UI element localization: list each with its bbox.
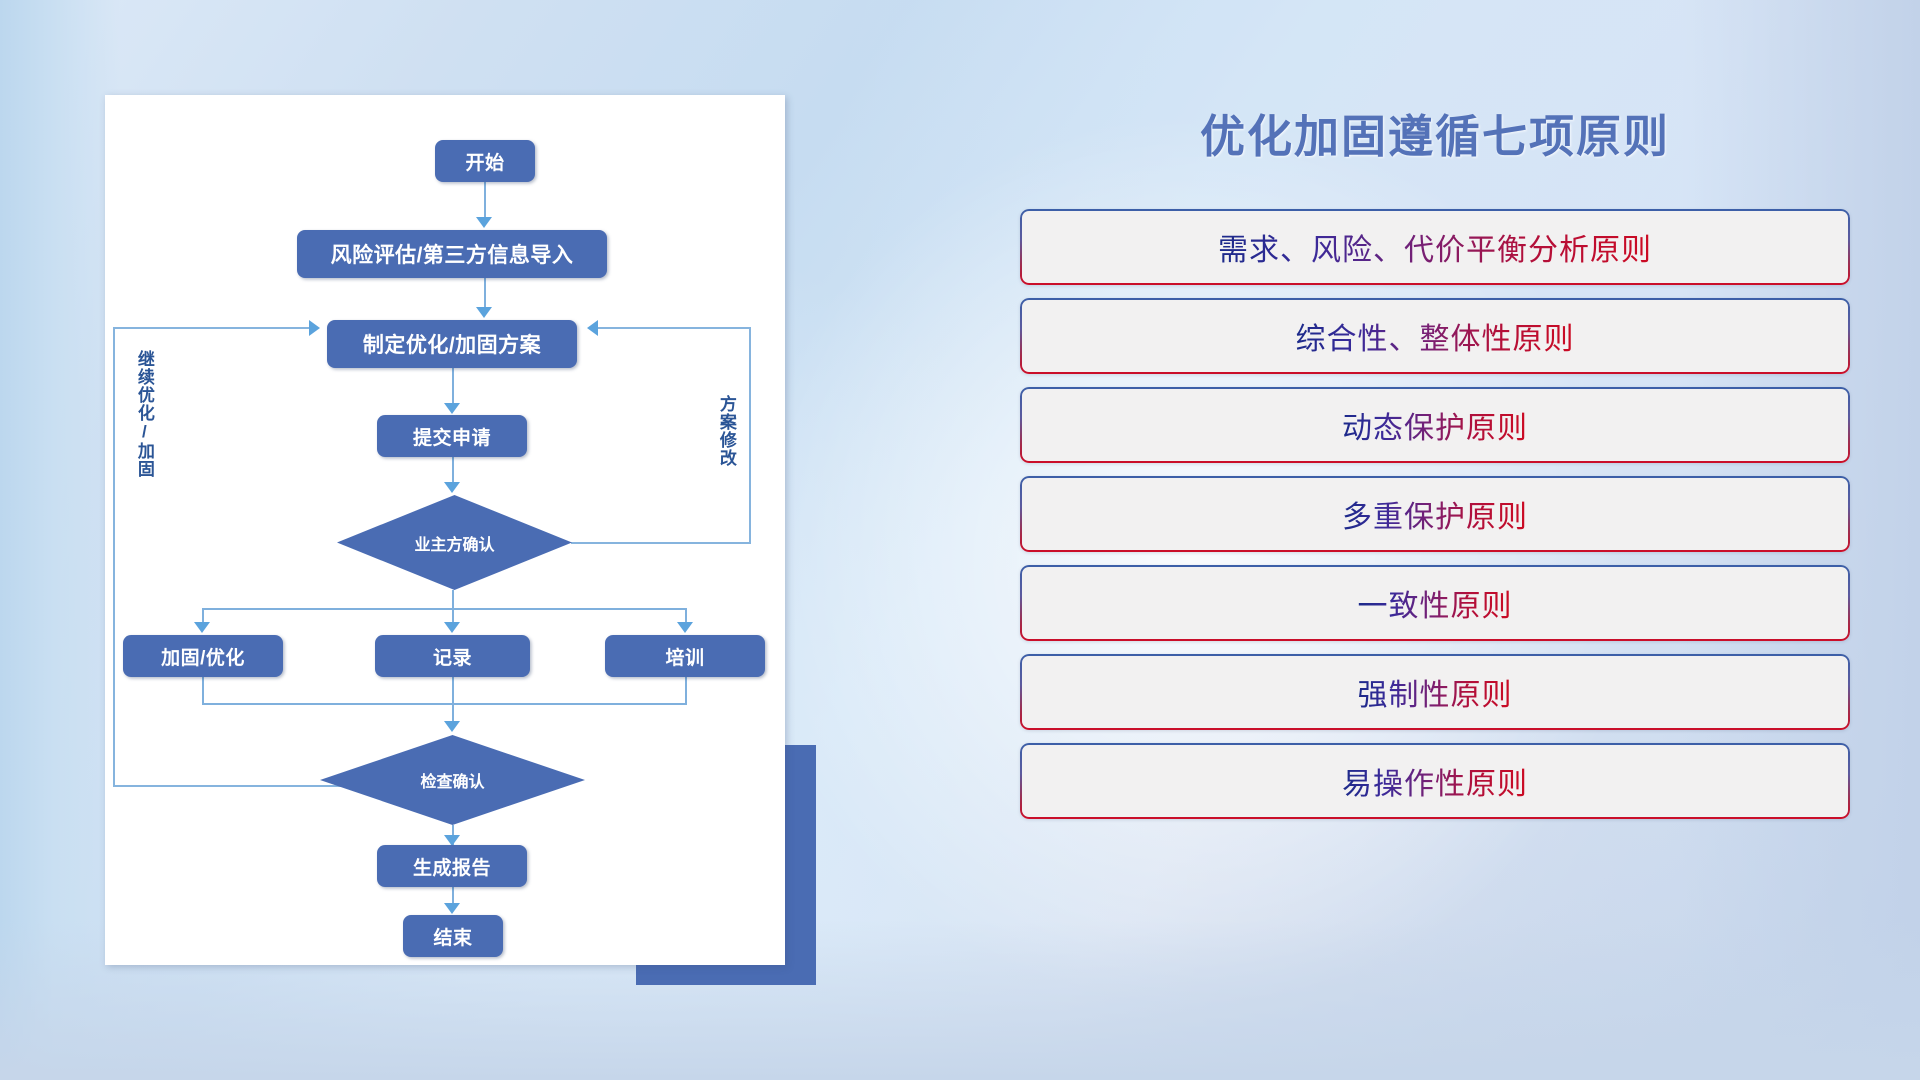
principle-label: 动态保护原则	[1342, 403, 1528, 447]
flow-node-submit[interactable]: 提交申请	[377, 415, 527, 457]
connector-right-loop-vertical	[749, 327, 751, 544]
flow-node-record[interactable]: 记录	[375, 635, 530, 677]
flow-label-continue-optimize: 继续优化/加固	[135, 350, 153, 478]
principle-item-1[interactable]: 需求、风险、代价平衡分析原则	[1020, 209, 1850, 285]
arrow-branch-record	[444, 622, 460, 633]
principles-panel: 优化加固遵循七项原则 需求、风险、代价平衡分析原则 综合性、整体性原则 动态保护…	[1020, 100, 1850, 1000]
connector-start-risk	[484, 182, 486, 218]
principle-label: 一致性原则	[1358, 581, 1513, 625]
connector-plan-submit	[452, 368, 454, 404]
connector-right-loop-top	[597, 327, 751, 329]
arrow-branch-train	[677, 622, 693, 633]
arrow-left-loop-into-plan	[309, 320, 320, 336]
principle-item-2[interactable]: 综合性、整体性原则	[1020, 298, 1850, 374]
flow-node-report[interactable]: 生成报告	[377, 845, 527, 887]
connector-owner-down	[452, 590, 454, 610]
flow-node-end[interactable]: 结束	[403, 915, 503, 957]
arrow-risk-plan	[476, 307, 492, 318]
connector-reinforce-down	[202, 677, 204, 705]
flowchart-stage: 开始 风险评估/第三方信息导入 制定优化/加固方案 提交申请 业主方确认 加固/…	[105, 95, 785, 965]
principle-item-4[interactable]: 多重保护原则	[1020, 476, 1850, 552]
principle-item-7[interactable]: 易操作性原则	[1020, 743, 1850, 819]
arrow-submit-owner	[444, 482, 460, 493]
principle-item-3[interactable]: 动态保护原则	[1020, 387, 1850, 463]
connector-submit-owner	[452, 457, 454, 483]
flow-node-train[interactable]: 培训	[605, 635, 765, 677]
principle-label: 多重保护原则	[1342, 492, 1528, 536]
flowchart-card: 开始 风险评估/第三方信息导入 制定优化/加固方案 提交申请 业主方确认 加固/…	[105, 95, 785, 965]
connector-merge-to-check	[452, 677, 454, 723]
flow-node-start[interactable]: 开始	[435, 140, 535, 182]
flow-node-check[interactable]: 检查确认	[320, 735, 585, 825]
panel-title: 优化加固遵循七项原则	[1020, 100, 1850, 165]
flow-node-risk[interactable]: 风险评估/第三方信息导入	[297, 230, 607, 278]
connector-merge-bus	[202, 703, 687, 705]
principle-label: 需求、风险、代价平衡分析原则	[1218, 225, 1652, 269]
arrow-merge-check	[444, 721, 460, 732]
flow-label-plan-revision: 方案修改	[717, 395, 735, 467]
principle-item-6[interactable]: 强制性原则	[1020, 654, 1850, 730]
arrow-report-end	[444, 903, 460, 914]
principle-item-5[interactable]: 一致性原则	[1020, 565, 1850, 641]
connector-risk-plan	[484, 278, 486, 308]
principle-label: 强制性原则	[1358, 670, 1513, 714]
connector-train-down	[685, 677, 687, 705]
flow-node-plan[interactable]: 制定优化/加固方案	[327, 320, 577, 368]
flow-node-owner[interactable]: 业主方确认	[337, 495, 572, 590]
connector-left-loop-top	[113, 327, 311, 329]
principle-label: 易操作性原则	[1342, 759, 1528, 803]
arrow-branch-reinforce	[194, 622, 210, 633]
background-left-wash	[0, 0, 120, 1080]
principle-label: 综合性、整体性原则	[1296, 314, 1575, 358]
connector-left-loop-bottom	[113, 785, 358, 787]
arrow-right-loop-into-plan	[587, 320, 598, 336]
connector-right-loop-bottom	[571, 542, 751, 544]
connector-left-loop-vertical	[113, 327, 115, 787]
flow-node-reinforce[interactable]: 加固/优化	[123, 635, 283, 677]
arrow-plan-submit	[444, 403, 460, 414]
arrow-start-risk	[476, 217, 492, 228]
connector-branch-bus	[202, 608, 687, 610]
